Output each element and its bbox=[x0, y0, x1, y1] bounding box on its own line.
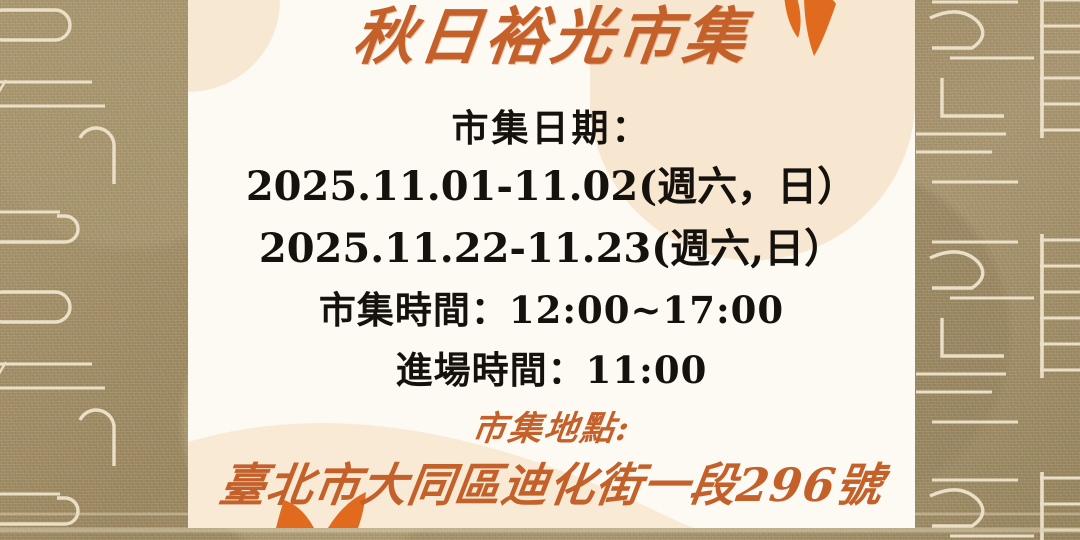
market-time-line: 市集時間：12:00~17:00 bbox=[188, 280, 915, 340]
place-label: 市集地點: bbox=[188, 412, 915, 446]
poster-detail-block: 市集日期： 2025.11.01-11.02(週六，日） 2025.11.22-… bbox=[188, 100, 915, 400]
poster-card: 秋日裕光市集 市集日期： 2025.11.01-11.02(週六，日） 2025… bbox=[188, 0, 915, 528]
poster-canvas: 秋日裕光市集 市集日期： 2025.11.01-11.02(週六，日） 2025… bbox=[0, 0, 1080, 540]
poster-title: 秋日裕光市集 bbox=[188, 6, 915, 68]
date-line-1: 2025.11.01-11.02(週六，日） bbox=[188, 156, 915, 218]
date-label: 市集日期： bbox=[188, 100, 915, 156]
entry-time-line: 進場時間：11:00 bbox=[188, 340, 915, 400]
place-address: 臺北市大同區迪化街一段296號 bbox=[188, 462, 915, 508]
date-line-2: 2025.11.22-11.23(週六,日） bbox=[188, 218, 915, 280]
